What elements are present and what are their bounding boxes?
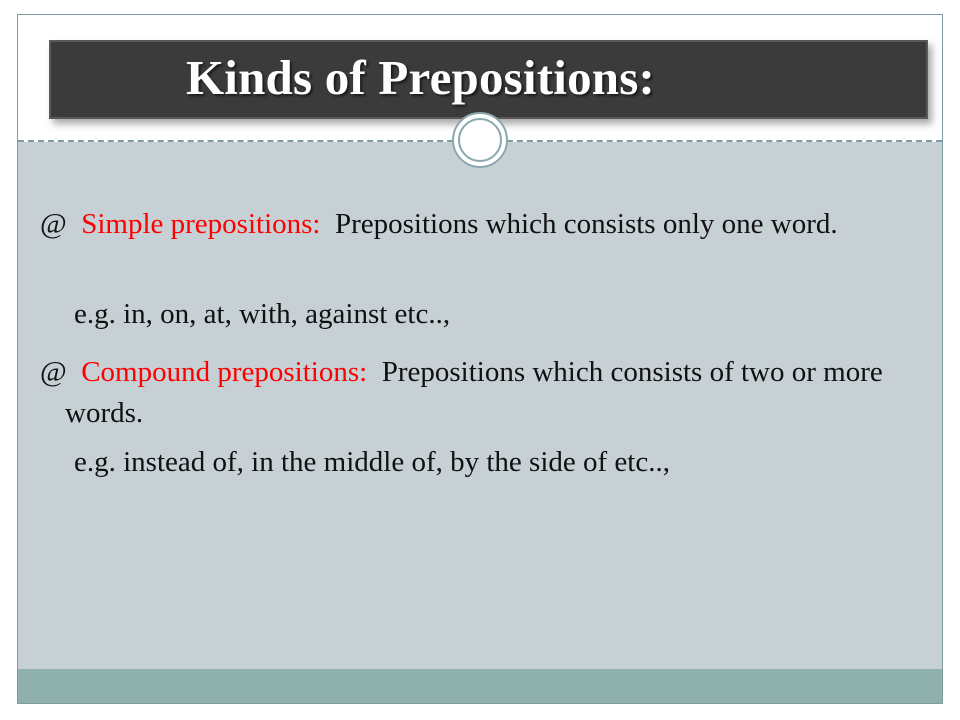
bullet-term-simple: Simple prepositions: <box>81 208 320 240</box>
title-box: Kinds of Prepositions: <box>49 40 928 119</box>
example-text-compound: e.g. instead of, in the middle of, by th… <box>74 446 670 478</box>
list-item: @ Simple prepositions: Prepositions whic… <box>40 204 925 245</box>
at-bullet-marker: @ <box>40 208 67 240</box>
list-item-example: e.g. in, on, at, with, against etc.., <box>74 294 914 335</box>
slide-content: @ Simple prepositions: Prepositions whic… <box>18 142 942 669</box>
decorative-ring-icon <box>452 112 508 168</box>
example-text-simple: e.g. in, on, at, with, against etc.., <box>74 298 450 330</box>
bullet-definition-simple: Prepositions which consists only one wor… <box>335 208 838 240</box>
list-item-example: e.g. instead of, in the middle of, by th… <box>74 442 914 483</box>
slide: Kinds of Prepositions: @ Simple preposit… <box>0 0 960 720</box>
at-bullet-marker: @ <box>40 356 67 388</box>
page-title: Kinds of Prepositions: <box>186 53 655 102</box>
decorative-ring-inner-icon <box>458 118 502 162</box>
list-item: @ Compound prepositions: Prepositions wh… <box>40 352 925 434</box>
slide-footer-band <box>18 669 942 703</box>
bullet-term-compound: Compound prepositions: <box>81 356 367 388</box>
